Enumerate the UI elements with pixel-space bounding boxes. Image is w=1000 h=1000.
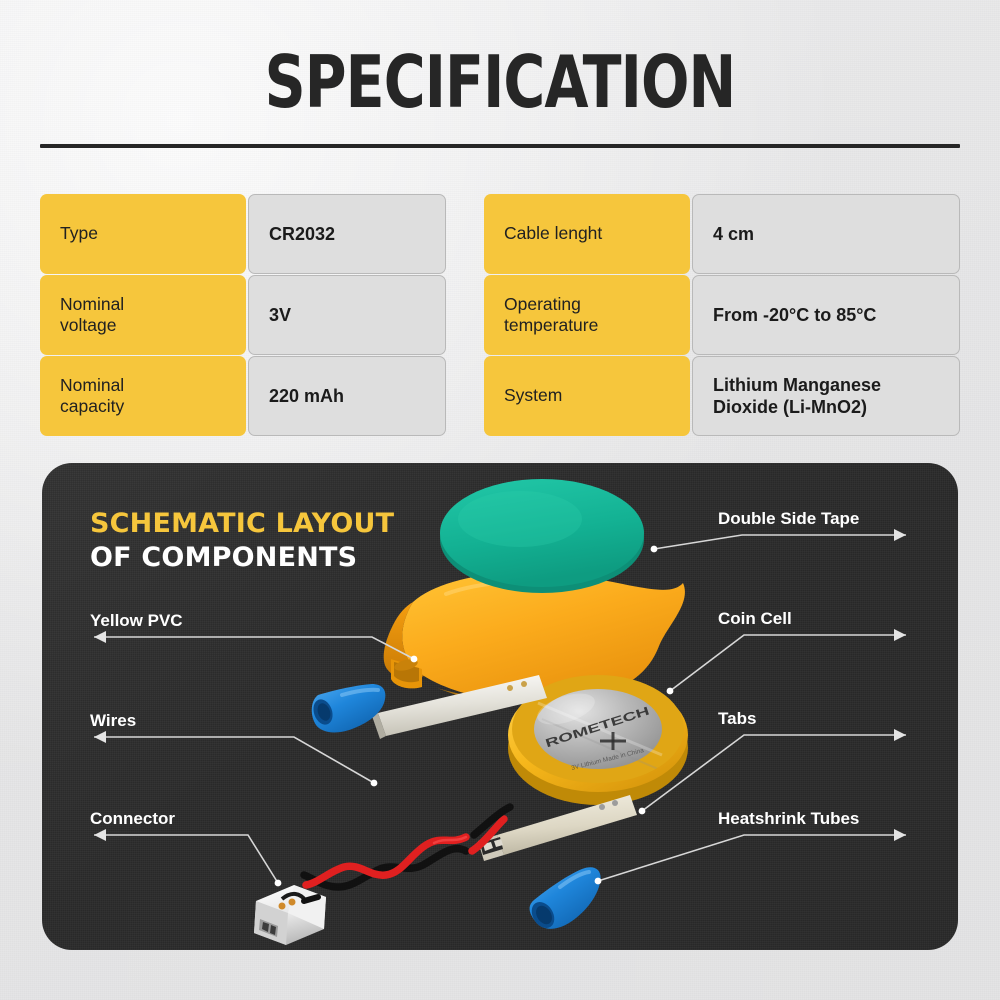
spec-label: System <box>484 356 690 436</box>
callout-double-side-tape: Double Side Tape <box>718 509 859 529</box>
callout-coin-cell: Coin Cell <box>718 609 792 629</box>
spec-row: System Lithium ManganeseDioxide (Li-MnO2… <box>484 356 960 436</box>
spec-value: 3V <box>248 275 446 355</box>
spec-row: Cable lenght 4 cm <box>484 194 960 274</box>
spec-column-left: Type CR2032 Nominalvoltage 3V Nominalcap… <box>40 194 446 436</box>
page-title: SPECIFICATION <box>60 46 940 118</box>
spec-label: Cable lenght <box>484 194 690 274</box>
spec-row: Nominalvoltage 3V <box>40 275 446 355</box>
spec-row: Operatingtemperature From -20°C to 85°C <box>484 275 960 355</box>
schematic-panel: SCHEMATIC LAYOUT OF COMPONENTS <box>42 463 958 950</box>
callout-wires: Wires <box>90 711 136 731</box>
spec-column-right: Cable lenght 4 cm Operatingtemperature F… <box>484 194 960 436</box>
spec-value: CR2032 <box>248 194 446 274</box>
infographic-page: SPECIFICATION Type CR2032 Nominalvoltage… <box>0 0 1000 1000</box>
spec-value: From -20°C to 85°C <box>692 275 960 355</box>
callout-connector: Connector <box>90 809 175 829</box>
callout-tabs: Tabs <box>718 709 756 729</box>
callout-heatshrink-tubes: Heatshrink Tubes <box>718 809 859 829</box>
specification-table: Type CR2032 Nominalvoltage 3V Nominalcap… <box>40 194 960 436</box>
title-divider <box>40 144 960 148</box>
spec-value: 4 cm <box>692 194 960 274</box>
spec-label: Nominalvoltage <box>40 275 246 355</box>
spec-label: Nominalcapacity <box>40 356 246 436</box>
callout-leader-lines <box>42 463 958 950</box>
callout-yellow-pvc: Yellow PVC <box>90 611 183 631</box>
spec-row: Nominalcapacity 220 mAh <box>40 356 446 436</box>
spec-row: Type CR2032 <box>40 194 446 274</box>
spec-label: Type <box>40 194 246 274</box>
spec-value: Lithium ManganeseDioxide (Li-MnO2) <box>692 356 960 436</box>
spec-value: 220 mAh <box>248 356 446 436</box>
spec-label: Operatingtemperature <box>484 275 690 355</box>
